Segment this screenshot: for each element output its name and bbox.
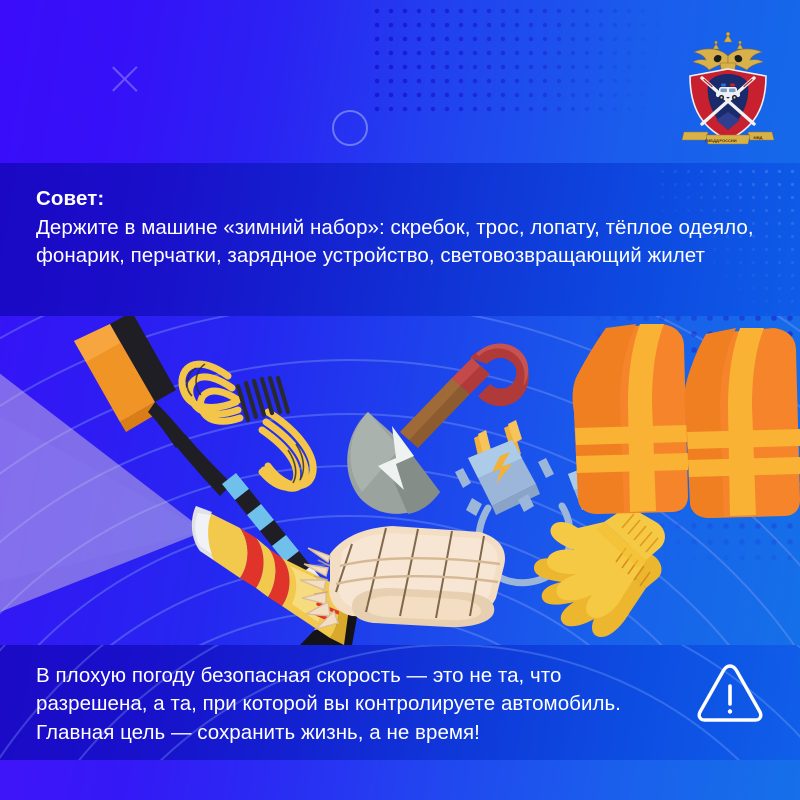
x-decoration-icon (108, 62, 142, 96)
gloves-icon (534, 506, 665, 637)
bottom-strip (0, 760, 800, 800)
svg-text:МВД: МВД (753, 135, 762, 140)
rope-binding (238, 378, 288, 420)
light-beam-icon (0, 366, 205, 616)
blanket-icon (300, 526, 505, 629)
gibdd-russia-emblem: ГИБДД РОССИИ МВД (680, 26, 776, 150)
warning-banner: В плохую погоду безопасная скорость — эт… (0, 645, 800, 760)
halftone-dots-decoration (370, 0, 700, 120)
bottom-arcs-decoration (0, 760, 800, 800)
svg-text:РОССИИ: РОССИИ (719, 138, 736, 143)
tip-title: Совет: (36, 187, 760, 211)
illustration-zone (0, 316, 800, 645)
circle-decoration-icon (332, 110, 368, 146)
warning-text: В плохую погоду безопасная скорость — эт… (36, 662, 666, 747)
poster-root: ГИБДД РОССИИ МВД Совет: Держите в машине… (0, 0, 800, 800)
svg-text:ГИБДД: ГИБДД (705, 138, 719, 143)
safety-vest-icon (573, 324, 800, 518)
winter-kit-items (0, 316, 800, 645)
tip-content: Совет: Держите в машине «зимний набор»: … (36, 187, 760, 271)
tip-banner: Совет: Держите в машине «зимний набор»: … (0, 163, 800, 316)
warning-triangle-icon (693, 660, 767, 726)
tip-body: Держите в машине «зимний набор»: скребок… (36, 214, 760, 271)
